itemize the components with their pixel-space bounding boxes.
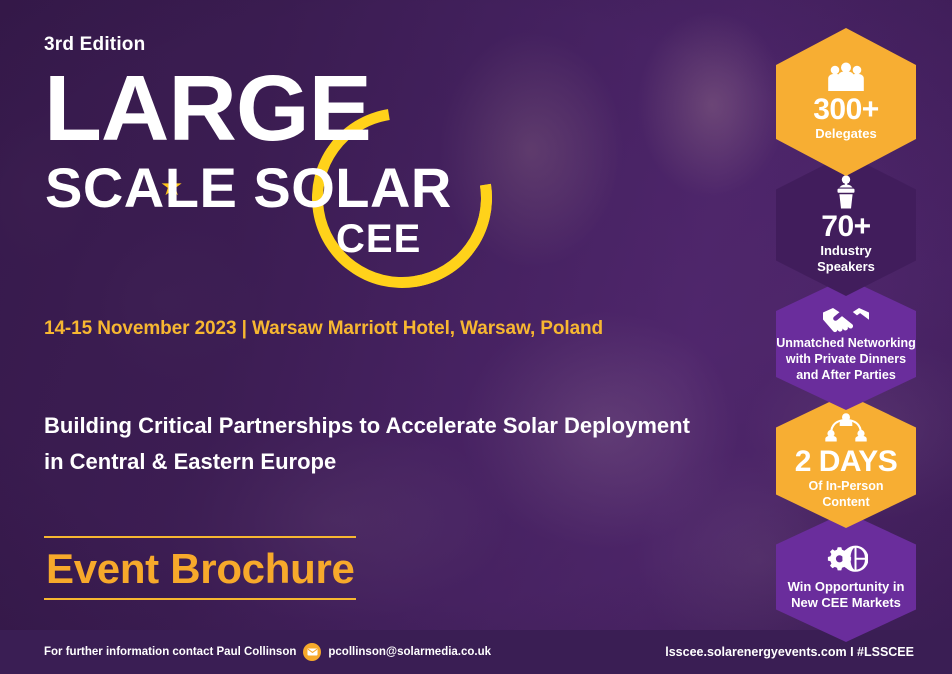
handshake-icon xyxy=(821,305,871,333)
highlight-label-1: Of In-Person xyxy=(808,478,883,494)
tagline-line-2: in Central & Eastern Europe xyxy=(44,444,724,480)
highlight-hex-delegates[interactable]: 300+ Delegates xyxy=(776,28,916,176)
highlight-label-1: Industry xyxy=(820,243,871,259)
brochure-cover: 3rd Edition LARGE ★ SCALE SOLAR CEE 14-1… xyxy=(0,0,952,674)
highlight-label-1: Win Opportunity in xyxy=(788,579,905,595)
footer-contact-text: For further information contact Paul Col… xyxy=(44,646,296,658)
highlight-hex-new-markets[interactable]: Win Opportunity in New CEE Markets xyxy=(776,512,916,642)
brochure-title: Event Brochure xyxy=(44,538,356,598)
gear-globe-icon xyxy=(824,543,868,577)
highlight-label-2: Speakers xyxy=(817,259,875,275)
footer-bar: For further information contact Paul Col… xyxy=(0,630,952,674)
event-brochure-block: Event Brochure xyxy=(44,536,356,600)
highlight-number: 2 DAYS xyxy=(795,446,898,478)
highlight-hex-networking[interactable]: Unmatched Networking with Private Dinner… xyxy=(776,278,916,410)
footer-email[interactable]: pcollinson@solarmedia.co.uk xyxy=(328,646,491,658)
group-of-people-icon xyxy=(825,62,867,92)
logo-word-scale-solar: SCALE SOLAR xyxy=(45,160,452,216)
highlight-number: 70+ xyxy=(821,211,870,243)
highlight-label-2: New CEE Markets xyxy=(791,595,901,611)
speaker-podium-icon xyxy=(830,175,862,209)
date-and-venue: 14-15 November 2023 | Warsaw Marriott Ho… xyxy=(44,318,603,340)
highlight-label-1: Unmatched Networking xyxy=(776,335,916,351)
highlight-label-3: and After Parties xyxy=(796,367,896,383)
tagline-line-1: Building Critical Partnerships to Accele… xyxy=(44,408,724,444)
logo-block: 3rd Edition LARGE ★ SCALE SOLAR CEE xyxy=(44,34,504,277)
brochure-rule-bottom xyxy=(44,598,356,600)
highlights-hex-stack: 300+ Delegates 70+ Industry Speakers xyxy=(776,28,916,642)
logo-word-cee: CEE xyxy=(336,219,421,259)
edition-label: 3rd Edition xyxy=(44,34,504,56)
envelope-icon[interactable] xyxy=(303,643,321,661)
logo-word-large: LARGE xyxy=(44,62,371,155)
highlight-hex-two-days[interactable]: 2 DAYS Of In-Person Content xyxy=(776,394,916,528)
footer-website-hashtag[interactable]: lsscee.solarenergyevents.com I #LSSCEE xyxy=(665,645,914,659)
event-logo: LARGE ★ SCALE SOLAR CEE xyxy=(44,62,504,277)
footer-contact: For further information contact Paul Col… xyxy=(44,643,491,661)
highlight-label-2: Content xyxy=(822,494,869,510)
event-tagline: Building Critical Partnerships to Accele… xyxy=(44,408,724,480)
highlight-label-1: Delegates xyxy=(815,126,876,142)
highlight-number: 300+ xyxy=(813,94,879,126)
people-network-icon xyxy=(825,412,867,444)
highlight-label-2: with Private Dinners xyxy=(786,351,906,367)
